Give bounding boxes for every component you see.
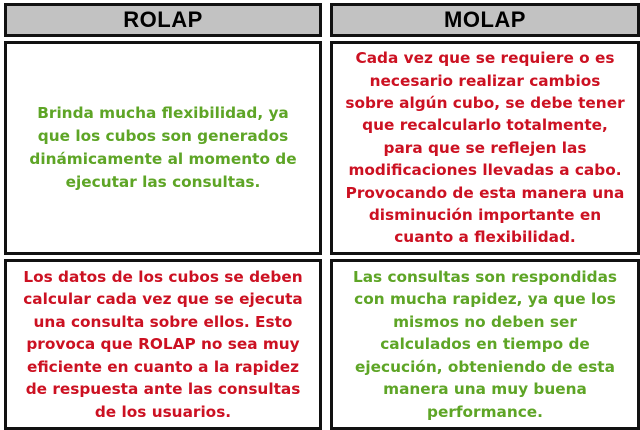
rolap-molap-comparison-table: ROLAP MOLAP Brinda mucha flexibilidad, y… — [0, 0, 640, 427]
column-header-rolap-label: ROLAP — [123, 8, 203, 32]
cell-flexibility-molap-text: Cada vez que se requiere o es necesario … — [339, 47, 631, 249]
cell-flexibility-molap: Cada vez que se requiere o es necesario … — [330, 41, 640, 255]
cell-performance-molap-text: Las consultas son respondidas con mucha … — [339, 266, 631, 423]
cell-performance-molap: Las consultas son respondidas con mucha … — [330, 259, 640, 430]
cell-flexibility-rolap-text: Brinda mucha flexibilidad, ya que los cu… — [13, 102, 313, 194]
cell-performance-rolap: Los datos de los cubos se deben calcular… — [4, 259, 322, 430]
cell-flexibility-rolap: Brinda mucha flexibilidad, ya que los cu… — [4, 41, 322, 255]
column-header-molap-label: MOLAP — [444, 8, 526, 32]
cell-performance-rolap-text: Los datos de los cubos se deben calcular… — [13, 266, 313, 423]
column-header-molap: MOLAP — [330, 3, 640, 37]
column-header-rolap: ROLAP — [4, 3, 322, 37]
